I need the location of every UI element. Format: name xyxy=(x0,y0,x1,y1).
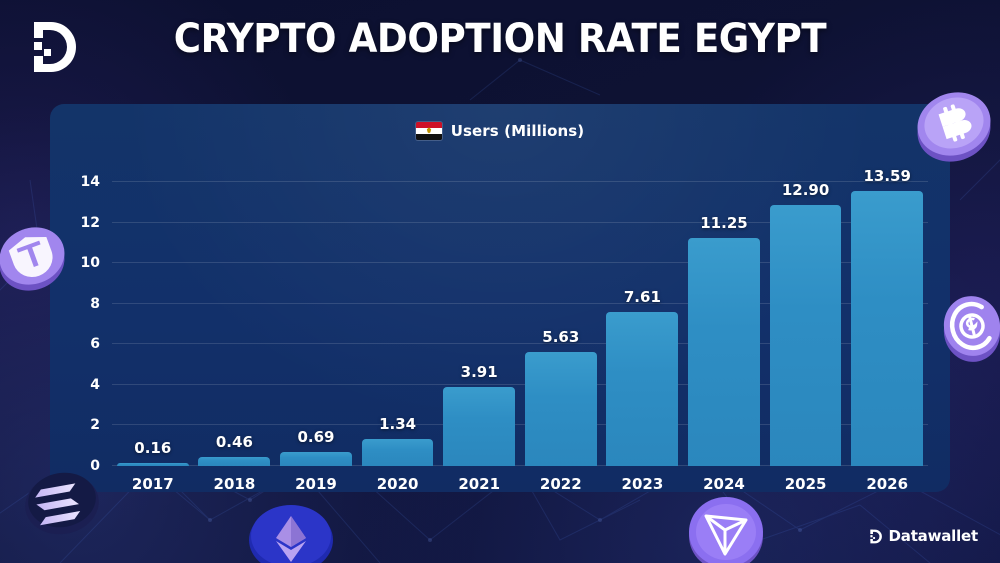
bar-group: 0.162017 xyxy=(112,162,194,466)
tron-coin-icon xyxy=(678,492,772,563)
y-axis-tick-label: 2 xyxy=(90,417,100,433)
bar-group: 13.592026 xyxy=(846,162,928,466)
bar-group: 12.902025 xyxy=(765,162,847,466)
bar[interactable] xyxy=(525,352,597,466)
bar[interactable] xyxy=(688,238,760,466)
plot-area: 02468101214 0.1620170.4620180.6920191.34… xyxy=(112,162,928,466)
bar[interactable] xyxy=(851,191,923,466)
bar[interactable] xyxy=(280,452,352,466)
x-axis-tick-label: 2020 xyxy=(357,475,439,492)
bar-value-label: 5.63 xyxy=(520,328,602,346)
bar[interactable] xyxy=(770,205,842,466)
usdc-coin-icon xyxy=(938,284,1000,368)
bar-group: 5.632022 xyxy=(520,162,602,466)
y-axis-tick-label: 14 xyxy=(81,174,100,190)
bar-group: 0.692019 xyxy=(275,162,357,466)
solana-coin-icon xyxy=(18,462,104,538)
bar[interactable] xyxy=(198,457,270,466)
x-axis-tick-label: 2021 xyxy=(438,475,520,492)
x-axis-tick-label: 2022 xyxy=(520,475,602,492)
bar-value-label: 0.46 xyxy=(194,433,276,451)
x-axis-tick-label: 2025 xyxy=(765,475,847,492)
datawallet-d-logo-icon xyxy=(866,528,883,545)
x-axis-tick-label: 2018 xyxy=(194,475,276,492)
bar-group: 11.252024 xyxy=(683,162,765,466)
x-axis-tick-label: 2019 xyxy=(275,475,357,492)
bar-group: 3.912021 xyxy=(438,162,520,466)
x-axis-tick-label: 2023 xyxy=(602,475,684,492)
bar[interactable] xyxy=(362,439,434,466)
bar-value-label: 7.61 xyxy=(602,288,684,306)
y-axis-tick-label: 4 xyxy=(90,377,100,393)
y-axis-tick-label: 10 xyxy=(81,255,100,271)
bar-group: 0.462018 xyxy=(194,162,276,466)
bar-value-label: 11.25 xyxy=(683,214,765,232)
bar[interactable] xyxy=(117,463,189,466)
tether-coin-icon xyxy=(0,212,74,298)
bar-group: 1.342020 xyxy=(357,162,439,466)
x-axis-tick-label: 2017 xyxy=(112,475,194,492)
page-title: CRYPTO ADOPTION RATE EGYPT xyxy=(35,16,965,62)
footer-brand: Datawallet xyxy=(866,527,978,545)
ethereum-coin-icon xyxy=(244,502,338,563)
bar-value-label: 0.69 xyxy=(275,428,357,446)
chart-legend: Users (Millions) xyxy=(50,122,950,140)
x-axis-tick-label: 2026 xyxy=(846,475,928,492)
bar-value-label: 12.90 xyxy=(765,181,847,199)
y-axis-tick-label: 12 xyxy=(81,215,100,231)
chart-panel: Users (Millions) 02468101214 0.1620170.4… xyxy=(50,104,950,492)
bar[interactable] xyxy=(606,312,678,466)
bar-value-label: 1.34 xyxy=(357,415,439,433)
bar-group: 7.612023 xyxy=(602,162,684,466)
x-axis-tick-label: 2024 xyxy=(683,475,765,492)
bitcoin-coin-icon xyxy=(906,78,998,170)
bar-value-label: 0.16 xyxy=(112,439,194,457)
y-axis-tick-label: 6 xyxy=(90,336,100,352)
bar[interactable] xyxy=(443,387,515,466)
header: CRYPTO ADOPTION RATE EGYPT xyxy=(0,0,1000,92)
y-axis-tick-label: 8 xyxy=(90,296,100,312)
legend-label: Users (Millions) xyxy=(451,122,585,140)
egypt-flag-icon xyxy=(416,122,442,140)
bar-value-label: 3.91 xyxy=(438,363,520,381)
footer-brand-text: Datawallet xyxy=(889,527,978,545)
